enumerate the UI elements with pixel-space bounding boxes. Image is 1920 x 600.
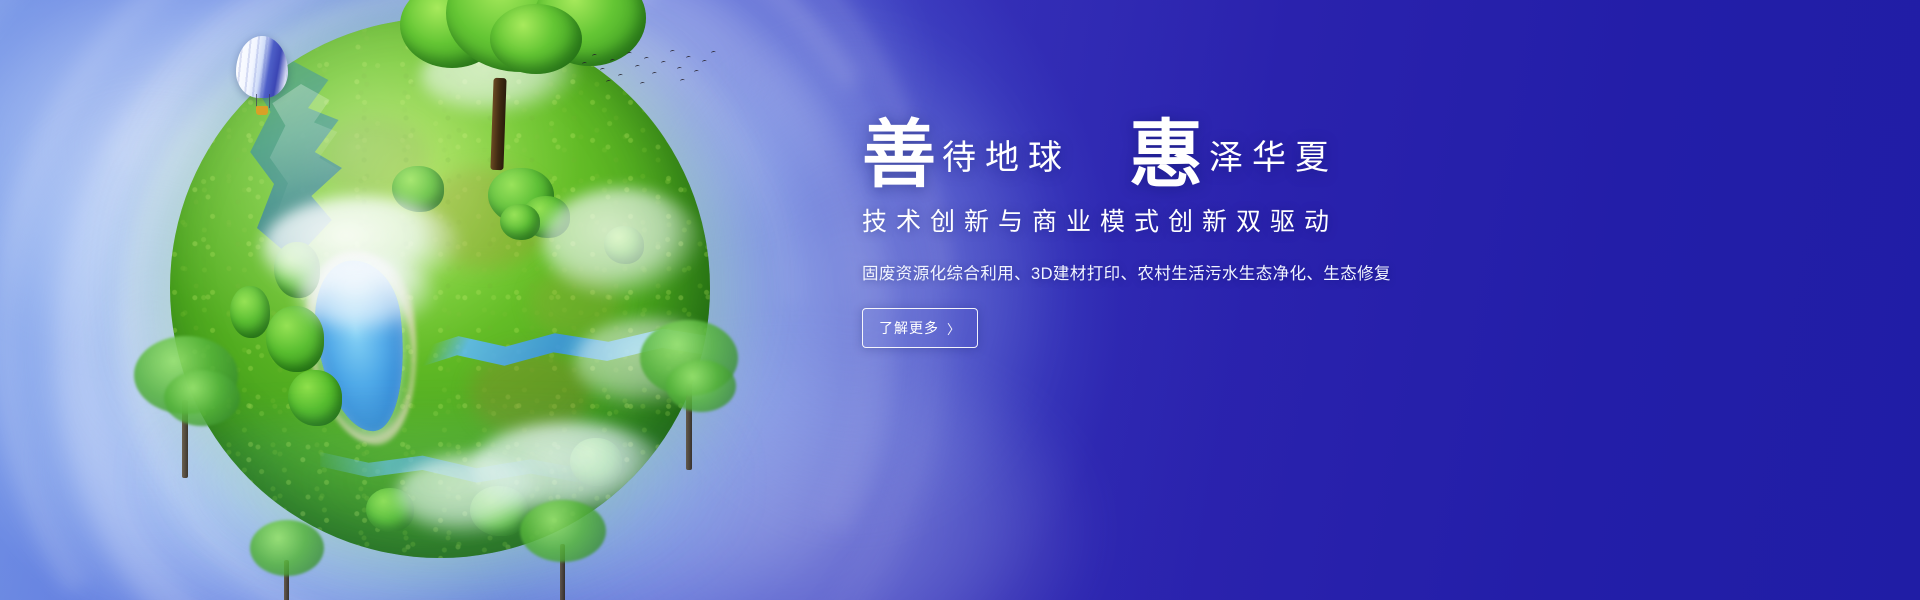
tree-foliage xyxy=(164,370,240,426)
hot-air-balloon-icon xyxy=(236,36,288,124)
planet-cloud xyxy=(262,196,462,300)
tree-clump xyxy=(230,286,270,338)
tree-clump xyxy=(392,166,444,212)
balloon-basket xyxy=(256,106,268,115)
hero-banner: 善 待地球 惠 泽华夏 技术创新与商业模式创新双驱动 固废资源化综合利用、3D建… xyxy=(0,0,1920,600)
tree-clump xyxy=(604,226,644,264)
description-text: 固废资源化综合利用、3D建材打印、农村生活污水生态净化、生态修复 xyxy=(862,260,1842,284)
tree-clump xyxy=(266,306,324,372)
terrain-patch xyxy=(470,348,590,438)
terrain-patch xyxy=(420,168,550,268)
balloon-envelope xyxy=(236,36,288,98)
chevron-right-icon: 〉 xyxy=(947,319,961,338)
headline-big-char-1: 善 xyxy=(862,122,942,190)
tree-foliage xyxy=(250,520,324,576)
tree-foliage xyxy=(666,360,736,412)
lake xyxy=(308,255,414,436)
terrain-patch xyxy=(320,118,430,198)
headline-rest-2: 泽华夏 xyxy=(1209,142,1338,176)
page-title: 善 待地球 惠 泽华夏 xyxy=(862,118,1842,186)
tree-clump xyxy=(366,488,414,532)
tree-clump xyxy=(500,204,540,240)
tree-clump xyxy=(522,196,570,238)
tree-foliage xyxy=(490,4,582,74)
planet-cloud xyxy=(298,258,438,334)
planet-cloud xyxy=(542,188,702,298)
tree-clump xyxy=(274,242,320,298)
learn-more-button[interactable]: 了解更多 〉 xyxy=(862,308,978,348)
terrain-patch xyxy=(530,268,620,338)
lake-shoreline xyxy=(296,244,429,452)
tree-clump xyxy=(570,438,622,486)
headline-big-char-2: 惠 xyxy=(1129,122,1209,190)
hero-content: 善 待地球 惠 泽华夏 技术创新与商业模式创新双驱动 固废资源化综合利用、3D建… xyxy=(862,118,1842,348)
river xyxy=(320,416,590,506)
tree-foliage xyxy=(520,500,606,562)
bird-flock-icon xyxy=(580,48,720,94)
tree-clump xyxy=(288,370,342,426)
tagline: 技术创新与商业模式创新双驱动 xyxy=(862,202,1842,238)
learn-more-label: 了解更多 xyxy=(879,318,939,338)
headline-rest-1: 待地球 xyxy=(942,142,1071,176)
tree-clump xyxy=(488,168,554,224)
